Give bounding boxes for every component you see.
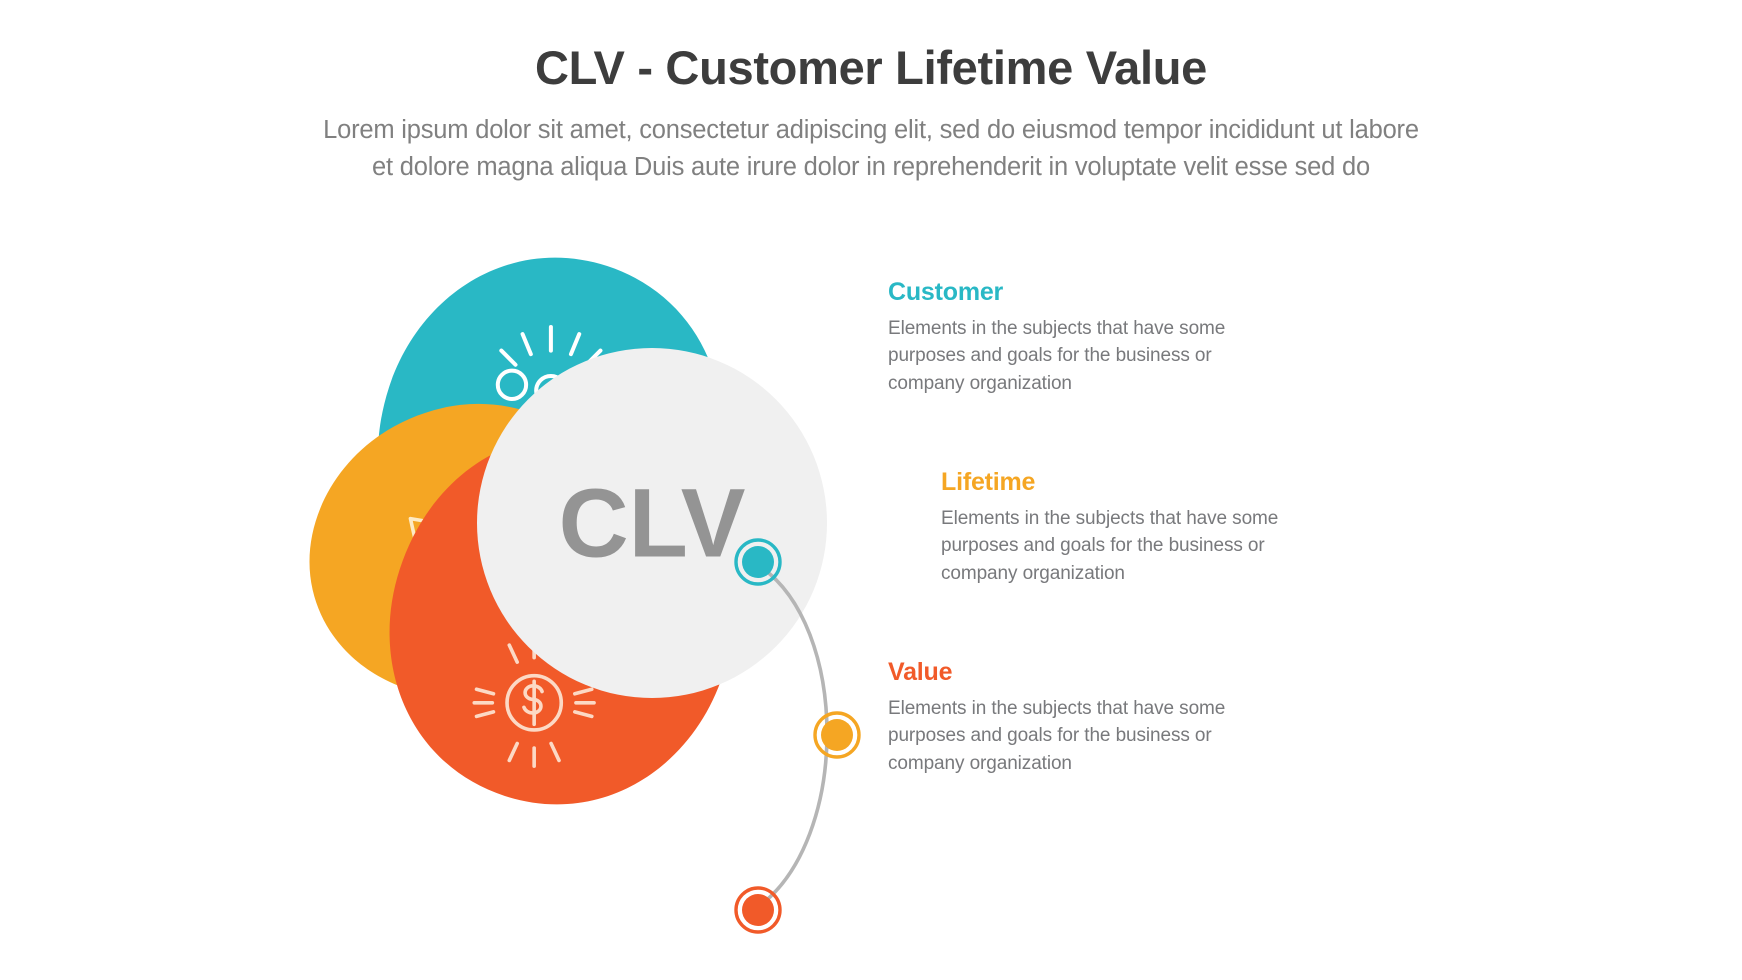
header: CLV - Customer Lifetime Value Lorem ipsu… <box>0 40 1742 185</box>
content-block-value: Value Elements in the subjects that have… <box>888 657 1318 777</box>
page-subtitle: Lorem ipsum dolor sit amet, consectetur … <box>0 112 1742 184</box>
desc-line-2: purposes and goals for the business or <box>888 342 1318 369</box>
block-desc-value: Elements in the subjects that have some … <box>888 695 1318 777</box>
content-block-lifetime: Lifetime Elements in the subjects that h… <box>941 467 1371 587</box>
infographic-page: CLV - Customer Lifetime Value Lorem ipsu… <box>0 0 1742 980</box>
block-title-lifetime: Lifetime <box>941 467 1371 497</box>
desc-line-3: company organization <box>888 750 1318 777</box>
desc-line-2: purposes and goals for the business or <box>941 532 1371 559</box>
block-desc-lifetime: Elements in the subjects that have some … <box>941 505 1371 587</box>
desc-line-1: Elements in the subjects that have some <box>888 695 1318 722</box>
desc-line-2: purposes and goals for the business or <box>888 722 1318 749</box>
block-title-customer: Customer <box>888 277 1318 307</box>
subtitle-line-2: et dolore magna aliqua Duis aute irure d… <box>0 149 1742 185</box>
page-title: CLV - Customer Lifetime Value <box>0 40 1742 95</box>
node-value[interactable] <box>736 888 780 932</box>
desc-line-3: company organization <box>941 560 1371 587</box>
diagram-area: CLV <box>0 205 1742 845</box>
desc-line-3: company organization <box>888 370 1318 397</box>
desc-line-1: Elements in the subjects that have some <box>941 505 1371 532</box>
desc-line-1: Elements in the subjects that have some <box>888 315 1318 342</box>
block-title-value: Value <box>888 657 1318 687</box>
block-desc-customer: Elements in the subjects that have some … <box>888 315 1318 397</box>
content-block-customer: Customer Elements in the subjects that h… <box>888 277 1318 397</box>
content-column: Customer Elements in the subjects that h… <box>0 205 1742 845</box>
subtitle-line-1: Lorem ipsum dolor sit amet, consectetur … <box>0 112 1742 148</box>
